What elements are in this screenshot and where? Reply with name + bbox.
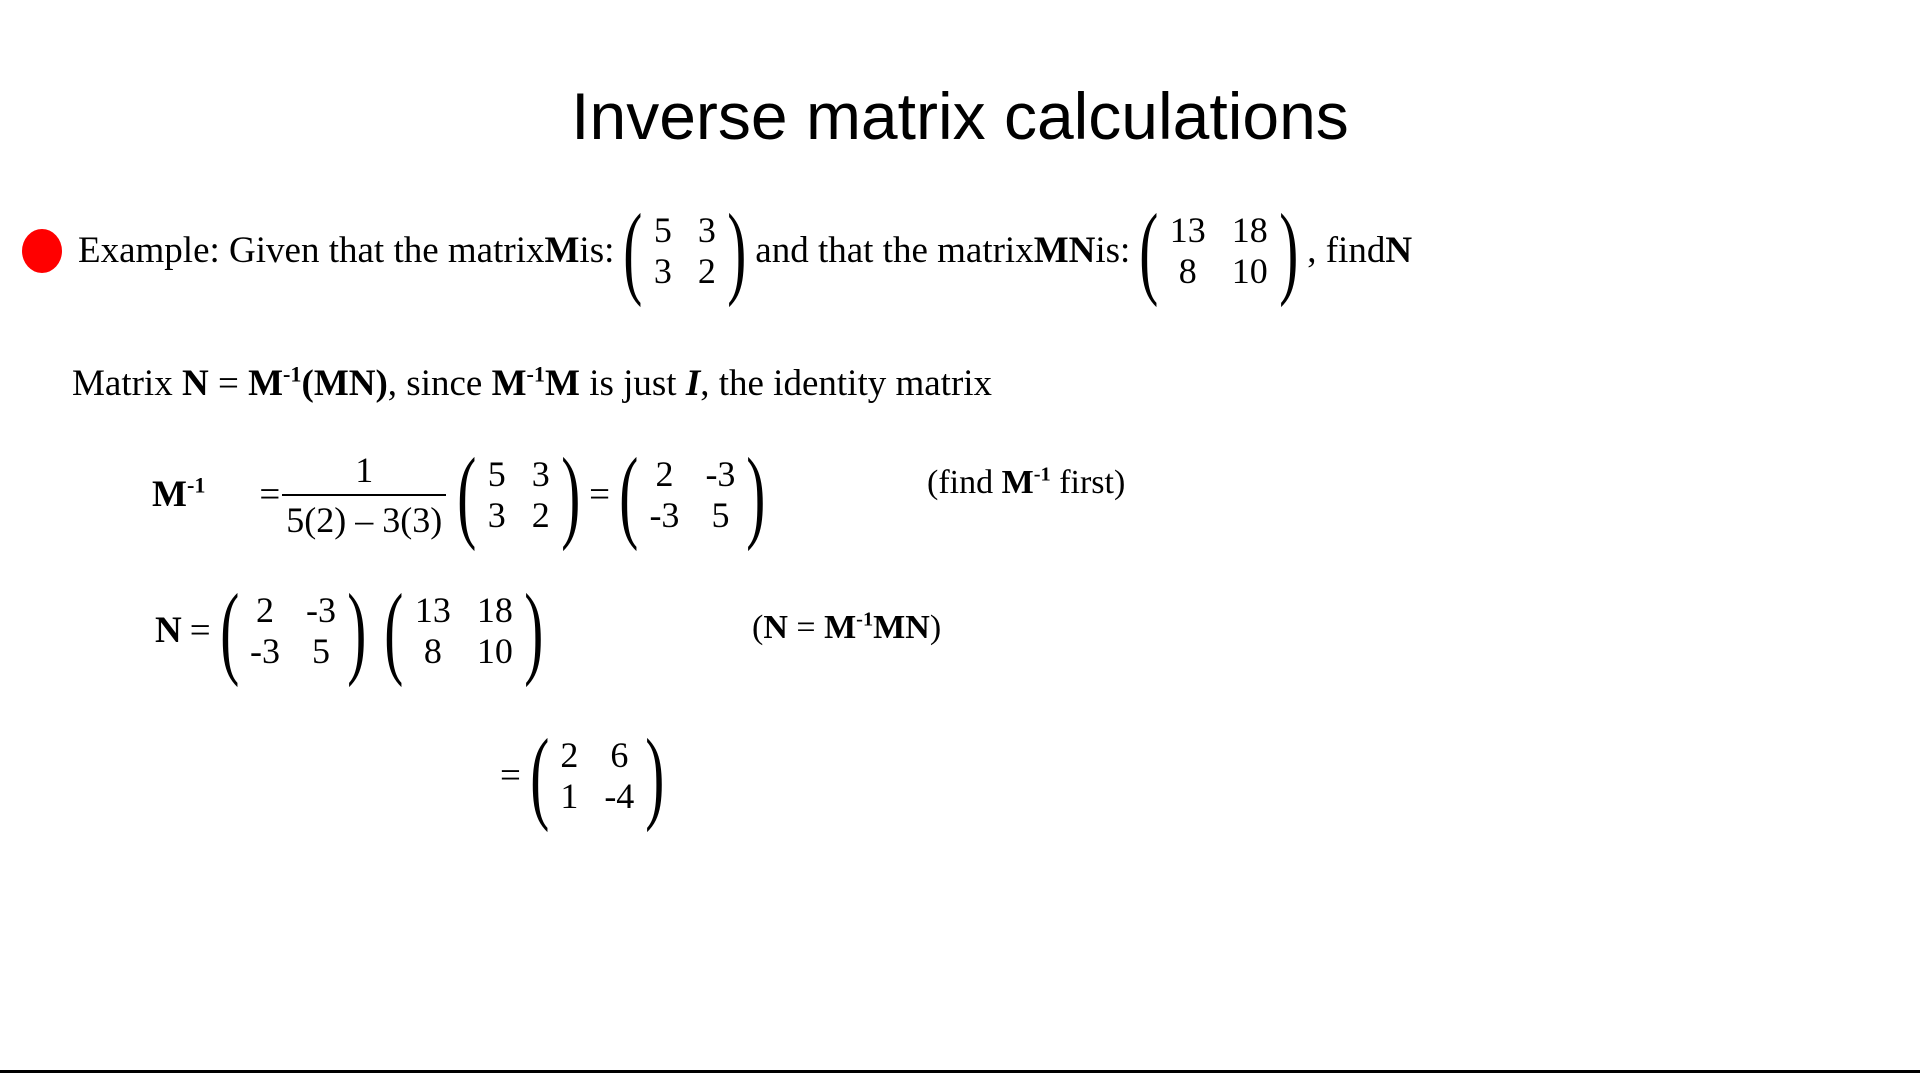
note-close-paren: ) xyxy=(930,609,941,646)
equals-sign-2: = xyxy=(589,473,610,517)
paren-left-icon: ( xyxy=(1139,210,1160,291)
matrix-cell: 1 xyxy=(560,776,578,817)
note-m-label: M xyxy=(1002,464,1034,501)
paren-right-icon: ) xyxy=(645,735,666,816)
note-equals: = xyxy=(788,609,824,646)
matrix-cell: -3 xyxy=(649,495,679,536)
matrix-m-inverse-display: ( 2 -3 -3 5 ) xyxy=(211,590,376,672)
example-text-part2: is: xyxy=(579,229,614,273)
identity-matrix-label: I xyxy=(686,363,700,404)
paren-right-icon: ) xyxy=(560,454,581,535)
slide-bottom-rule xyxy=(0,1070,1920,1073)
matrix-cell: 3 xyxy=(532,454,550,495)
matrix-cell: 13 xyxy=(415,590,451,631)
paren-left-icon: ( xyxy=(618,454,639,535)
matrix-cell: 2 xyxy=(256,590,274,631)
note-n-label: N xyxy=(763,609,788,646)
matrix-n-final-cells: 2 6 1 -4 xyxy=(558,735,636,817)
n-equals-note: (N = M-1MN) xyxy=(752,608,941,648)
paren-left-icon: ( xyxy=(623,210,644,291)
matrix-m-label: M xyxy=(544,229,579,273)
m-inverse-label: M-1 xyxy=(152,473,205,517)
matrix-cell: 2 xyxy=(560,735,578,776)
matrix-cell: 2 xyxy=(655,454,673,495)
definition-n-label: N xyxy=(182,363,209,404)
matrix-cell: 8 xyxy=(1179,251,1197,292)
matrix-cell: 5 xyxy=(654,210,672,251)
matrix-cell: 3 xyxy=(654,251,672,292)
matrix-cell: 3 xyxy=(488,495,506,536)
find-m-inverse-note: (find M-1 first) xyxy=(927,463,1125,503)
matrix-m-inverse-result-cells: 2 -3 -3 5 xyxy=(647,454,737,536)
matrix-m-original-cells: 5 3 3 2 xyxy=(486,454,552,536)
matrix-n-label: N xyxy=(1385,229,1412,273)
paren-right-icon: ) xyxy=(726,210,747,291)
matrix-mn-product-display: ( 13 18 8 10 ) xyxy=(375,590,552,672)
note-suffix: first) xyxy=(1051,464,1126,501)
example-text-part1: Example: Given that the matrix xyxy=(78,229,544,273)
example-text-part3: and that the matrix xyxy=(755,229,1033,273)
note-m-label-2: M xyxy=(824,609,856,646)
definition-m-label-2: M xyxy=(492,363,527,404)
paren-left-icon: ( xyxy=(384,590,405,671)
matrix-m-display: ( 5 3 3 2 ) xyxy=(614,210,755,292)
definition-prefix: Matrix xyxy=(72,363,182,404)
matrix-mn-display: ( 13 18 8 10 ) xyxy=(1130,210,1307,292)
matrix-cell: 10 xyxy=(477,631,513,672)
matrix-cell: 5 xyxy=(711,495,729,536)
paren-left-icon: ( xyxy=(529,735,550,816)
definition-suffix: , the identity matrix xyxy=(700,363,992,404)
definition-mid-text: , since xyxy=(388,363,492,404)
definition-m-exponent: -1 xyxy=(283,362,301,387)
n-result-label: N xyxy=(155,609,182,653)
paren-right-icon: ) xyxy=(1278,210,1299,291)
equals-sign-4: = xyxy=(500,754,521,798)
matrix-m-cells: 5 3 3 2 xyxy=(652,210,718,292)
matrix-cell: 13 xyxy=(1170,210,1206,251)
example-text-part5: , find xyxy=(1307,229,1385,273)
paren-left-icon: ( xyxy=(219,590,240,671)
bullet-dot-icon xyxy=(22,229,62,273)
slide-canvas: Inverse matrix calculations Example: Giv… xyxy=(0,0,1920,1080)
note-open-paren: ( xyxy=(752,609,763,646)
definition-m-exponent-2: -1 xyxy=(527,362,545,387)
final-result-line: = ( 2 6 1 -4 ) xyxy=(500,735,674,817)
definition-is-just: is just xyxy=(580,363,686,404)
definition-m-label: M xyxy=(248,363,283,404)
example-text-part4: is: xyxy=(1095,229,1130,273)
matrix-cell: 10 xyxy=(1232,251,1268,292)
matrix-cell: 8 xyxy=(424,631,442,672)
matrix-mn-cells: 13 18 8 10 xyxy=(1168,210,1270,292)
definition-equals: = xyxy=(209,363,248,404)
fraction-denominator: 5(2) – 3(3) xyxy=(282,496,446,542)
m-inverse-exponent: -1 xyxy=(187,473,205,498)
equals-sign-3: = xyxy=(190,609,211,653)
definition-m-label-3: M xyxy=(545,363,580,404)
note-mn-label: MN xyxy=(873,609,930,646)
example-bullet-row: Example: Given that the matrix M is: ( 5… xyxy=(22,210,1902,292)
matrix-cell: 2 xyxy=(698,251,716,292)
matrix-cell: 6 xyxy=(610,735,628,776)
matrix-cell: 18 xyxy=(477,590,513,631)
matrix-n-final-display: ( 2 6 1 -4 ) xyxy=(521,735,674,817)
matrix-cell: -3 xyxy=(306,590,336,631)
matrix-m-inverse-cells: 2 -3 -3 5 xyxy=(248,590,338,672)
note-prefix: (find xyxy=(927,464,1002,501)
matrix-mn-product-cells: 13 18 8 10 xyxy=(413,590,515,672)
matrix-cell: -4 xyxy=(604,776,634,817)
paren-left-icon: ( xyxy=(457,454,478,535)
note-m-exponent: -1 xyxy=(1034,464,1051,486)
paren-right-icon: ) xyxy=(523,590,544,671)
matrix-cell: 18 xyxy=(1232,210,1268,251)
matrix-cell: -3 xyxy=(705,454,735,495)
m-inverse-equation-line: M-1 = 1 5(2) – 3(3) ( 5 3 3 2 ) = ( 2 -3… xyxy=(152,448,775,542)
page-title: Inverse matrix calculations xyxy=(0,78,1920,154)
matrix-cell: 3 xyxy=(698,210,716,251)
fraction-numerator: 1 xyxy=(345,448,383,494)
matrix-mn-label: MN xyxy=(1034,229,1096,273)
matrix-cell: -3 xyxy=(250,631,280,672)
paren-right-icon: ) xyxy=(346,590,367,671)
definition-mn-label: MN xyxy=(314,363,376,404)
equals-sign: = xyxy=(259,473,280,517)
n-product-equation-line: N = ( 2 -3 -3 5 ) ( 13 18 8 10 ) xyxy=(155,590,552,672)
matrix-n-definition-line: Matrix N = M-1(MN), since M-1M is just I… xyxy=(72,362,992,406)
paren-right-icon: ) xyxy=(746,454,767,535)
definition-open-paren: ( xyxy=(301,363,313,404)
determinant-fraction: 1 5(2) – 3(3) xyxy=(282,448,446,542)
note-m-exponent-2: -1 xyxy=(856,609,873,631)
matrix-cell: 5 xyxy=(488,454,506,495)
matrix-m-inverse-result-display: ( 2 -3 -3 5 ) xyxy=(610,454,775,536)
matrix-cell: 2 xyxy=(532,495,550,536)
matrix-cell: 5 xyxy=(312,631,330,672)
matrix-m-original-display: ( 5 3 3 2 ) xyxy=(448,454,589,536)
definition-close-paren: ) xyxy=(375,363,387,404)
